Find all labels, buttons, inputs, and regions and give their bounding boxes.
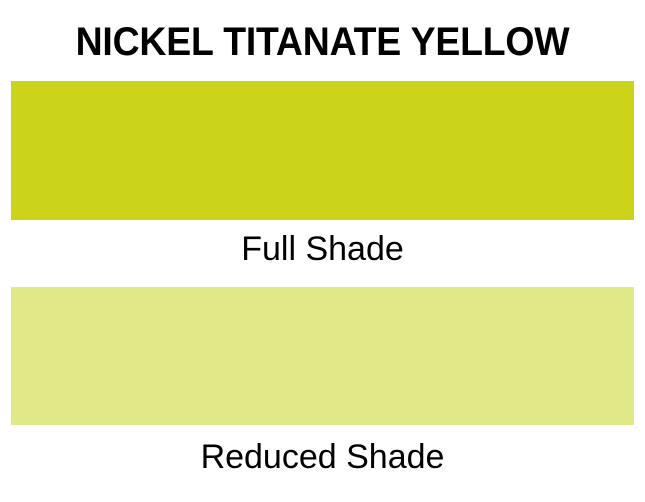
page-title: NICKEL TITANATE YELLOW <box>21 19 624 65</box>
swatch-label-reduced-shade: Reduced Shade <box>0 437 645 477</box>
color-swatch-reduced-shade <box>11 287 634 425</box>
swatch-label-full-shade: Full Shade <box>0 229 645 269</box>
color-swatch-full-shade <box>11 81 634 220</box>
pigment-shade-card: NICKEL TITANATE YELLOW Full Shade Reduce… <box>0 0 645 502</box>
